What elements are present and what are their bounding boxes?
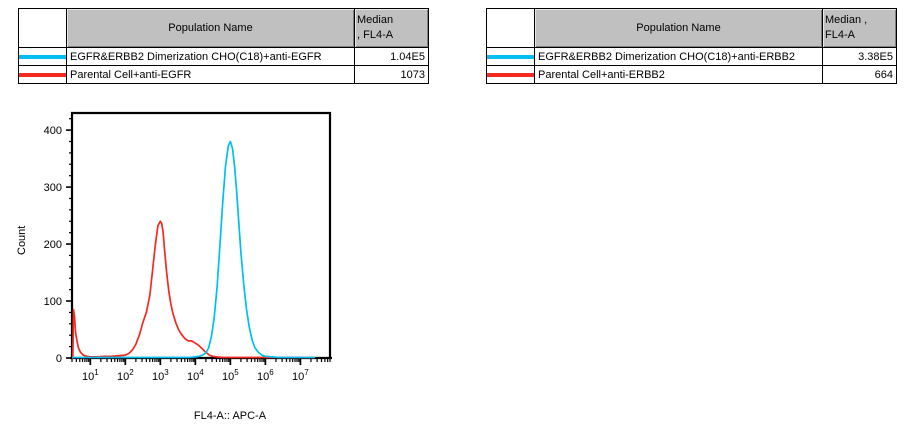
legend-header-population-name: Population Name	[67, 9, 355, 48]
svg-text:0: 0	[56, 353, 62, 365]
legend-header-median-line2: , FL4-A	[357, 28, 428, 43]
legend-row-cyan[interactable]: EGFR&ERBB2 Dimerization CHO(C18)+anti-EG…	[19, 48, 429, 66]
legend-table-right: Population Name Median , FL4-A EGFR&ERBB…	[486, 8, 897, 84]
legend-header-median: Median , FL4-A	[355, 9, 429, 48]
histogram-svg-right: 0100200300400101102103104105106107	[458, 105, 916, 405]
svg-text:105: 105	[222, 368, 239, 383]
legend-header-median: Median , FL4-A	[823, 9, 897, 48]
y-axis-title-left: Count	[16, 226, 28, 255]
legend-median-red: 1073	[355, 66, 429, 84]
svg-text:101: 101	[82, 368, 99, 383]
svg-text:102: 102	[117, 368, 134, 383]
legend-population-name-red: Parental Cell+anti-ERBB2	[535, 66, 823, 84]
legend-header-swatch-blank	[19, 9, 67, 48]
legend-swatch-red	[487, 66, 535, 84]
histogram-plot-right: 0100200300400101102103104105106107	[458, 105, 916, 405]
panel-right-anti-erbb2: Population Name Median , FL4-A EGFR&ERBB…	[458, 0, 916, 443]
svg-text:104: 104	[187, 368, 204, 383]
svg-text:400: 400	[44, 125, 62, 137]
legend-swatch-cyan	[19, 48, 67, 66]
legend-header-row: Population Name Median , FL4-A	[487, 9, 897, 48]
legend-header-population-name: Population Name	[535, 9, 823, 48]
legend-median-cyan: 1.04E5	[355, 48, 429, 66]
color-swatch-icon	[487, 73, 534, 77]
panel-left-anti-egfr: Population Name Median , FL4-A EGFR&ERBB…	[0, 0, 458, 443]
color-swatch-icon	[19, 55, 66, 59]
svg-text:300: 300	[44, 182, 62, 194]
x-axis-title-left: FL4-A:: APC-A	[100, 410, 360, 422]
svg-text:100: 100	[44, 296, 62, 308]
legend-header-swatch-blank	[487, 9, 535, 48]
legend-header-median-line2: FL4-A	[825, 28, 896, 43]
legend-median-red: 664	[823, 66, 897, 84]
histogram-plot-left: 0100200300400101102103104105106107	[0, 105, 458, 405]
color-swatch-icon	[487, 55, 534, 59]
legend-population-name-cyan: EGFR&ERBB2 Dimerization CHO(C18)+anti-EG…	[67, 48, 355, 66]
svg-text:103: 103	[152, 368, 169, 383]
svg-text:200: 200	[44, 239, 62, 251]
legend-table-left: Population Name Median , FL4-A EGFR&ERBB…	[18, 8, 429, 84]
legend-row-red[interactable]: Parental Cell+anti-EGFR 1073	[19, 66, 429, 84]
color-swatch-icon	[19, 73, 66, 77]
legend-swatch-red	[19, 66, 67, 84]
legend-header-median-line1: Median	[357, 13, 428, 28]
legend-header-row: Population Name Median , FL4-A	[19, 9, 429, 48]
svg-text:106: 106	[257, 368, 274, 383]
legend-row-cyan[interactable]: EGFR&ERBB2 Dimerization CHO(C18)+anti-ER…	[487, 48, 897, 66]
svg-text:107: 107	[292, 368, 309, 383]
legend-swatch-cyan	[487, 48, 535, 66]
legend-median-cyan: 3.38E5	[823, 48, 897, 66]
legend-population-name-red: Parental Cell+anti-EGFR	[67, 66, 355, 84]
legend-population-name-cyan: EGFR&ERBB2 Dimerization CHO(C18)+anti-ER…	[535, 48, 823, 66]
legend-header-median-line1: Median ,	[825, 13, 896, 28]
legend-row-red[interactable]: Parental Cell+anti-ERBB2 664	[487, 66, 897, 84]
histogram-svg-left: 0100200300400101102103104105106107	[0, 105, 458, 405]
